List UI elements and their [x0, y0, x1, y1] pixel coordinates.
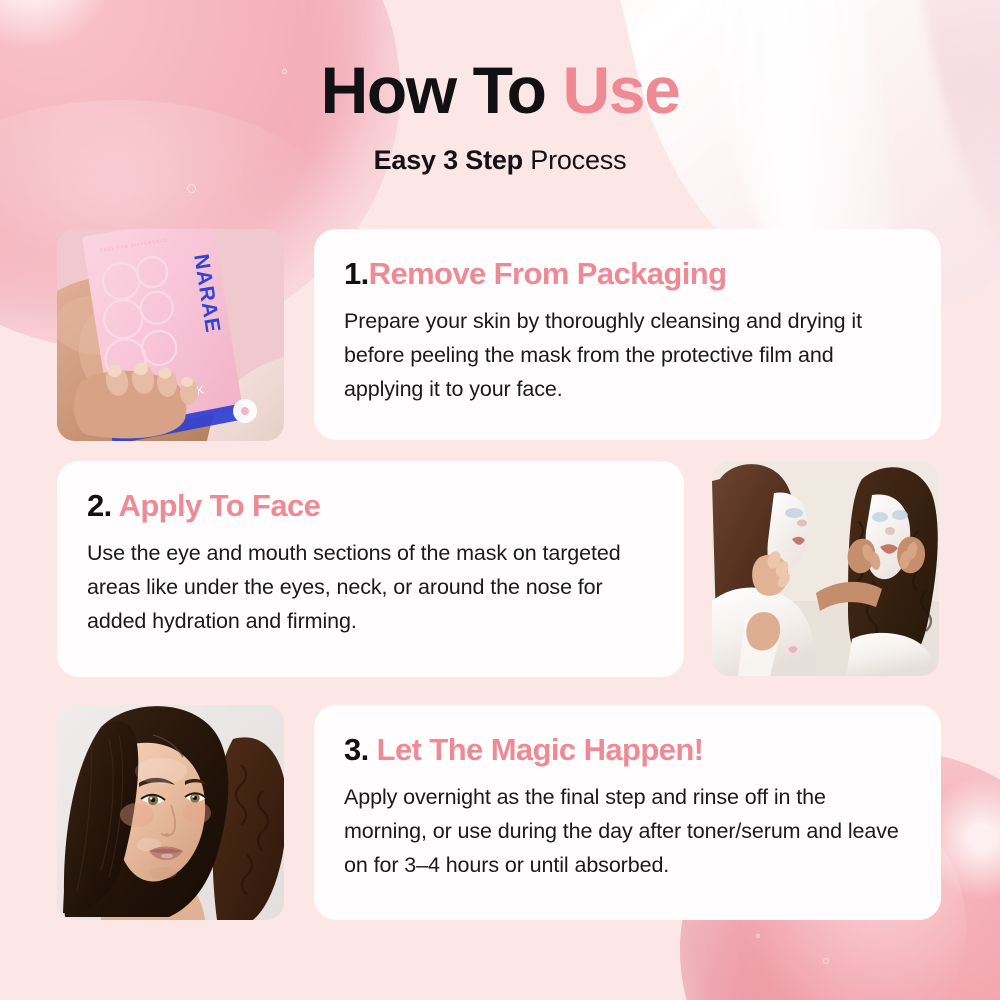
page-subtitle-rest: Process — [523, 145, 626, 175]
page-title-accent: Use — [563, 53, 680, 127]
step-1-image: FEEL THE DIFFERENCE KOREAN GLASS MASK 한국… — [57, 229, 284, 441]
step-1-number: 1. — [344, 256, 369, 291]
step-1-heading: 1.Remove From Packaging — [344, 257, 911, 291]
step-row-3: 3. Let The Magic Happen! Apply overnight… — [57, 705, 941, 920]
step-2-number: 2. — [87, 488, 112, 523]
step-1-card: 1.Remove From Packaging Prepare your ski… — [314, 229, 941, 440]
step-2-heading: 2. Apply To Face — [87, 489, 654, 523]
step-3-image — [57, 705, 284, 920]
step-3-card: 3. Let The Magic Happen! Apply overnight… — [314, 705, 941, 920]
bubble-micro-dot — [823, 958, 829, 964]
step-3-title: Let The Magic Happen! — [377, 732, 704, 767]
step-3-body: Apply overnight as the final step and ri… — [344, 781, 911, 882]
bubble-micro-dot — [187, 184, 196, 193]
step-1-title: Remove From Packaging — [369, 256, 727, 291]
how-to-use-infographic: How To Use Easy 3 Step Process — [0, 0, 1000, 1000]
page-subtitle-strong: Easy 3 Step — [374, 145, 523, 175]
step-2-title: Apply To Face — [119, 488, 321, 523]
step-2-image — [712, 461, 939, 676]
step-2-card: 2. Apply To Face Use the eye and mouth s… — [57, 461, 684, 677]
header: How To Use Easy 3 Step Process — [0, 56, 1000, 176]
step-1-photo-illustration: FEEL THE DIFFERENCE KOREAN GLASS MASK 한국… — [57, 229, 284, 441]
page-subtitle: Easy 3 Step Process — [0, 145, 1000, 176]
step-row-1: FEEL THE DIFFERENCE KOREAN GLASS MASK 한국… — [57, 229, 941, 441]
bubble-micro-dot — [756, 934, 760, 938]
page-title-dark: How To — [321, 53, 563, 127]
step-2-body: Use the eye and mouth sections of the ma… — [87, 537, 654, 638]
step-row-2: 2. Apply To Face Use the eye and mouth s… — [57, 461, 939, 677]
step-3-heading: 3. Let The Magic Happen! — [344, 733, 911, 767]
step-1-body: Prepare your skin by thoroughly cleansin… — [344, 305, 911, 406]
step-2-photo-illustration — [712, 461, 939, 676]
page-title: How To Use — [0, 56, 1000, 125]
step-3-photo-illustration — [57, 705, 284, 920]
step-3-number: 3. — [344, 732, 369, 767]
